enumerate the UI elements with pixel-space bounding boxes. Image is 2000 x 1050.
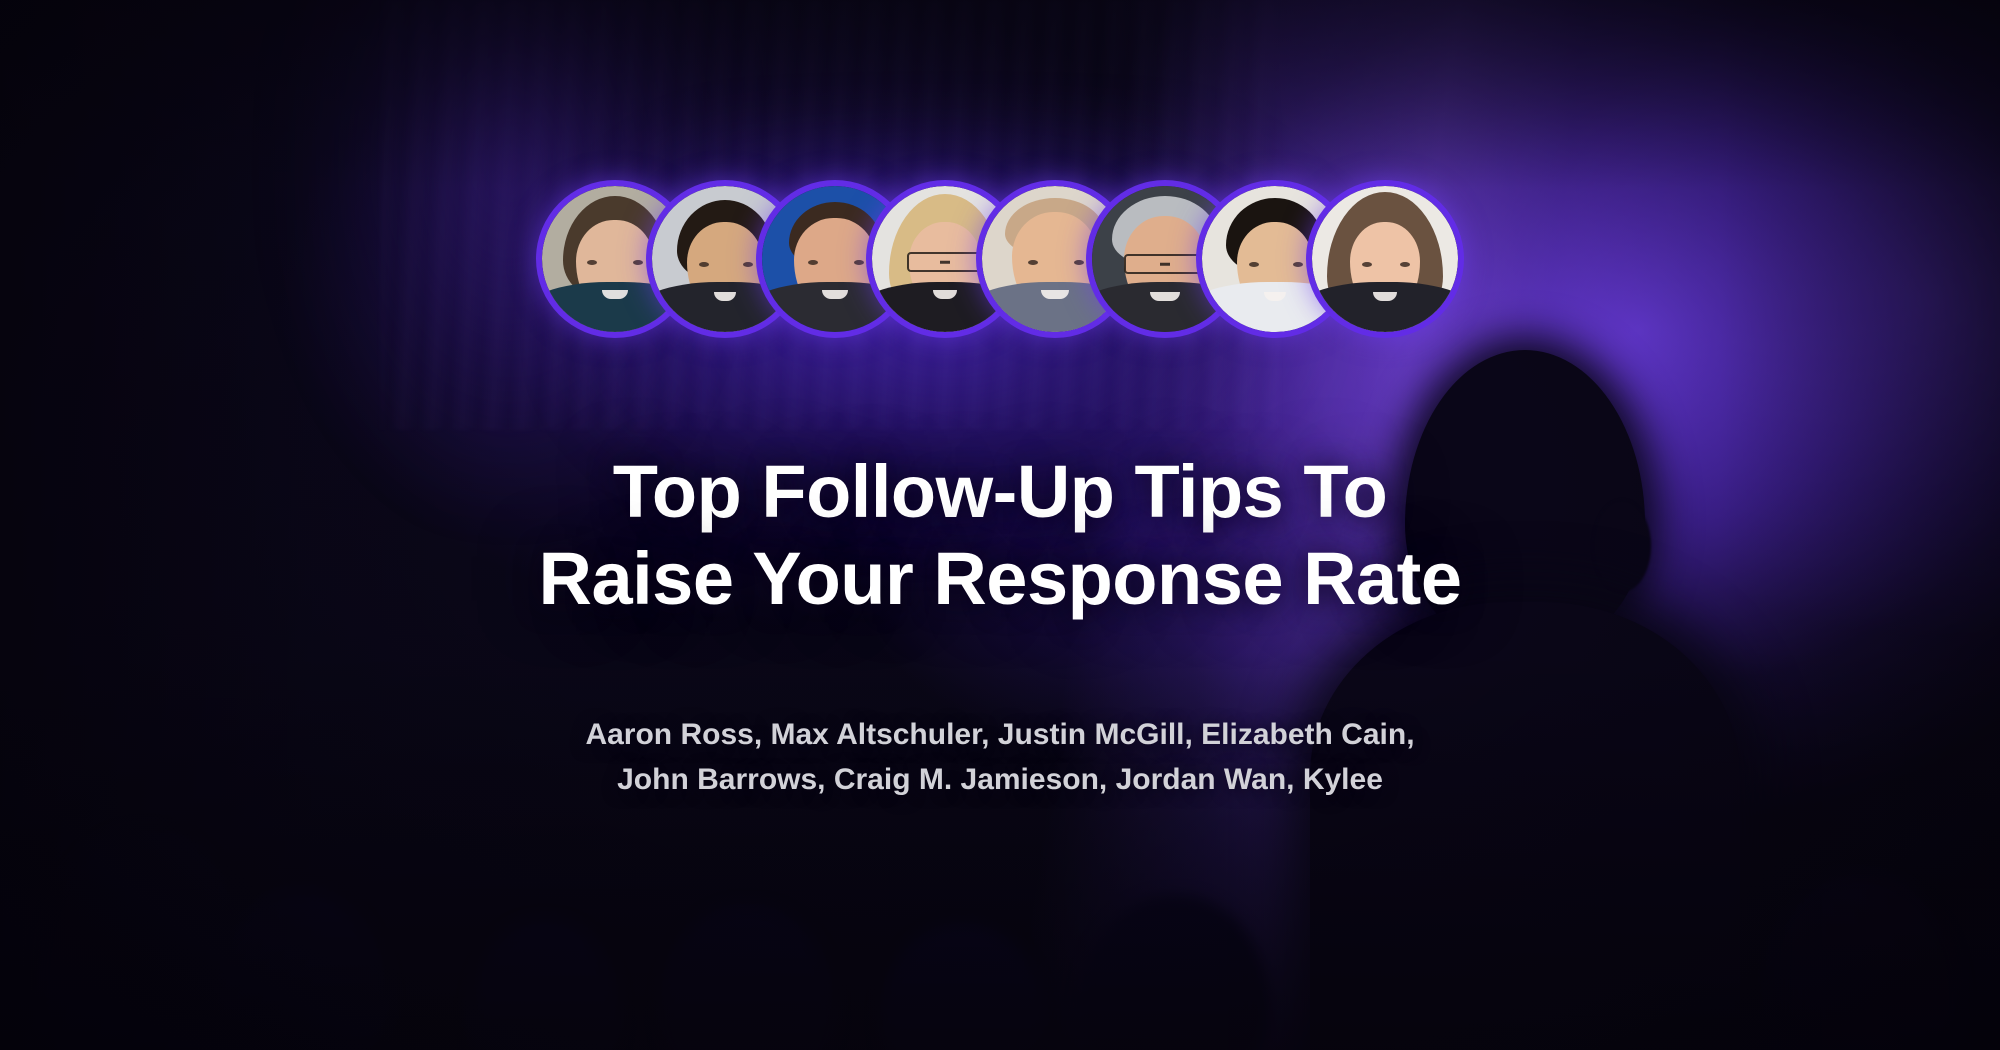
promo-banner: Top Follow-Up Tips To Raise Your Respons…: [0, 0, 2000, 1050]
speaker-avatar-row: [542, 186, 1458, 332]
banner-title: Top Follow-Up Tips To Raise Your Respons…: [0, 448, 2000, 623]
title-line-2: Raise Your Response Rate: [0, 535, 2000, 622]
subtitle-line-1: Aaron Ross, Max Altschuler, Justin McGil…: [0, 712, 2000, 757]
subtitle-line-2: John Barrows, Craig M. Jamieson, Jordan …: [0, 757, 2000, 802]
avatar-kylee: [1312, 186, 1458, 332]
title-line-1: Top Follow-Up Tips To: [0, 448, 2000, 535]
banner-subtitle: Aaron Ross, Max Altschuler, Justin McGil…: [0, 712, 2000, 802]
